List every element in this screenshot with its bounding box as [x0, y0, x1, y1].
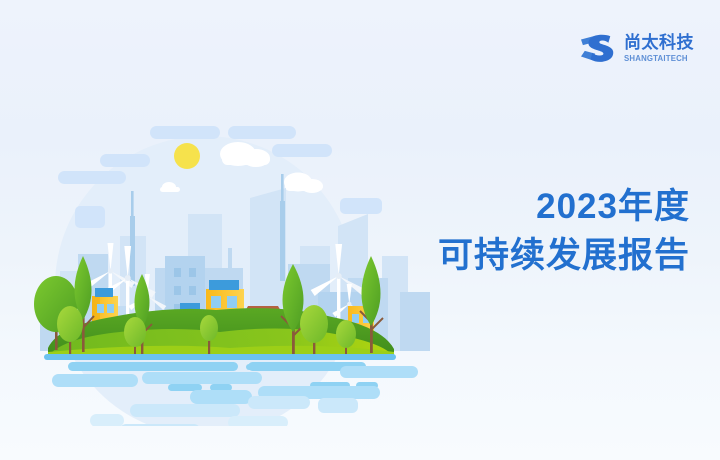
company-name-en: SHANGTAITECH	[624, 54, 688, 63]
cover-title-line-2: 可持续发展报告	[438, 235, 690, 278]
brand-logo: 尚太科技 SHANGTAITECH	[579, 31, 694, 65]
brand-logo-text: 尚太科技 SHANGTAITECH	[624, 34, 694, 63]
cover-title: 2023年度 可持续发展报告	[438, 186, 690, 277]
shangtai-s-monogram-icon	[579, 31, 617, 65]
solar-panel-icon	[209, 280, 239, 290]
cloud-medium-icon	[284, 173, 323, 194]
eco-city-illustration	[0, 96, 430, 426]
report-cover-slide: 尚太科技 SHANGTAITECH 2023年度 可持续发展报告	[0, 0, 720, 460]
company-name-cn: 尚太科技	[624, 34, 694, 51]
solar-panel-icon	[95, 288, 113, 297]
sun-icon	[174, 143, 200, 169]
cloud-large-icon	[220, 142, 270, 167]
cover-title-line-1: 2023年度	[438, 186, 690, 229]
